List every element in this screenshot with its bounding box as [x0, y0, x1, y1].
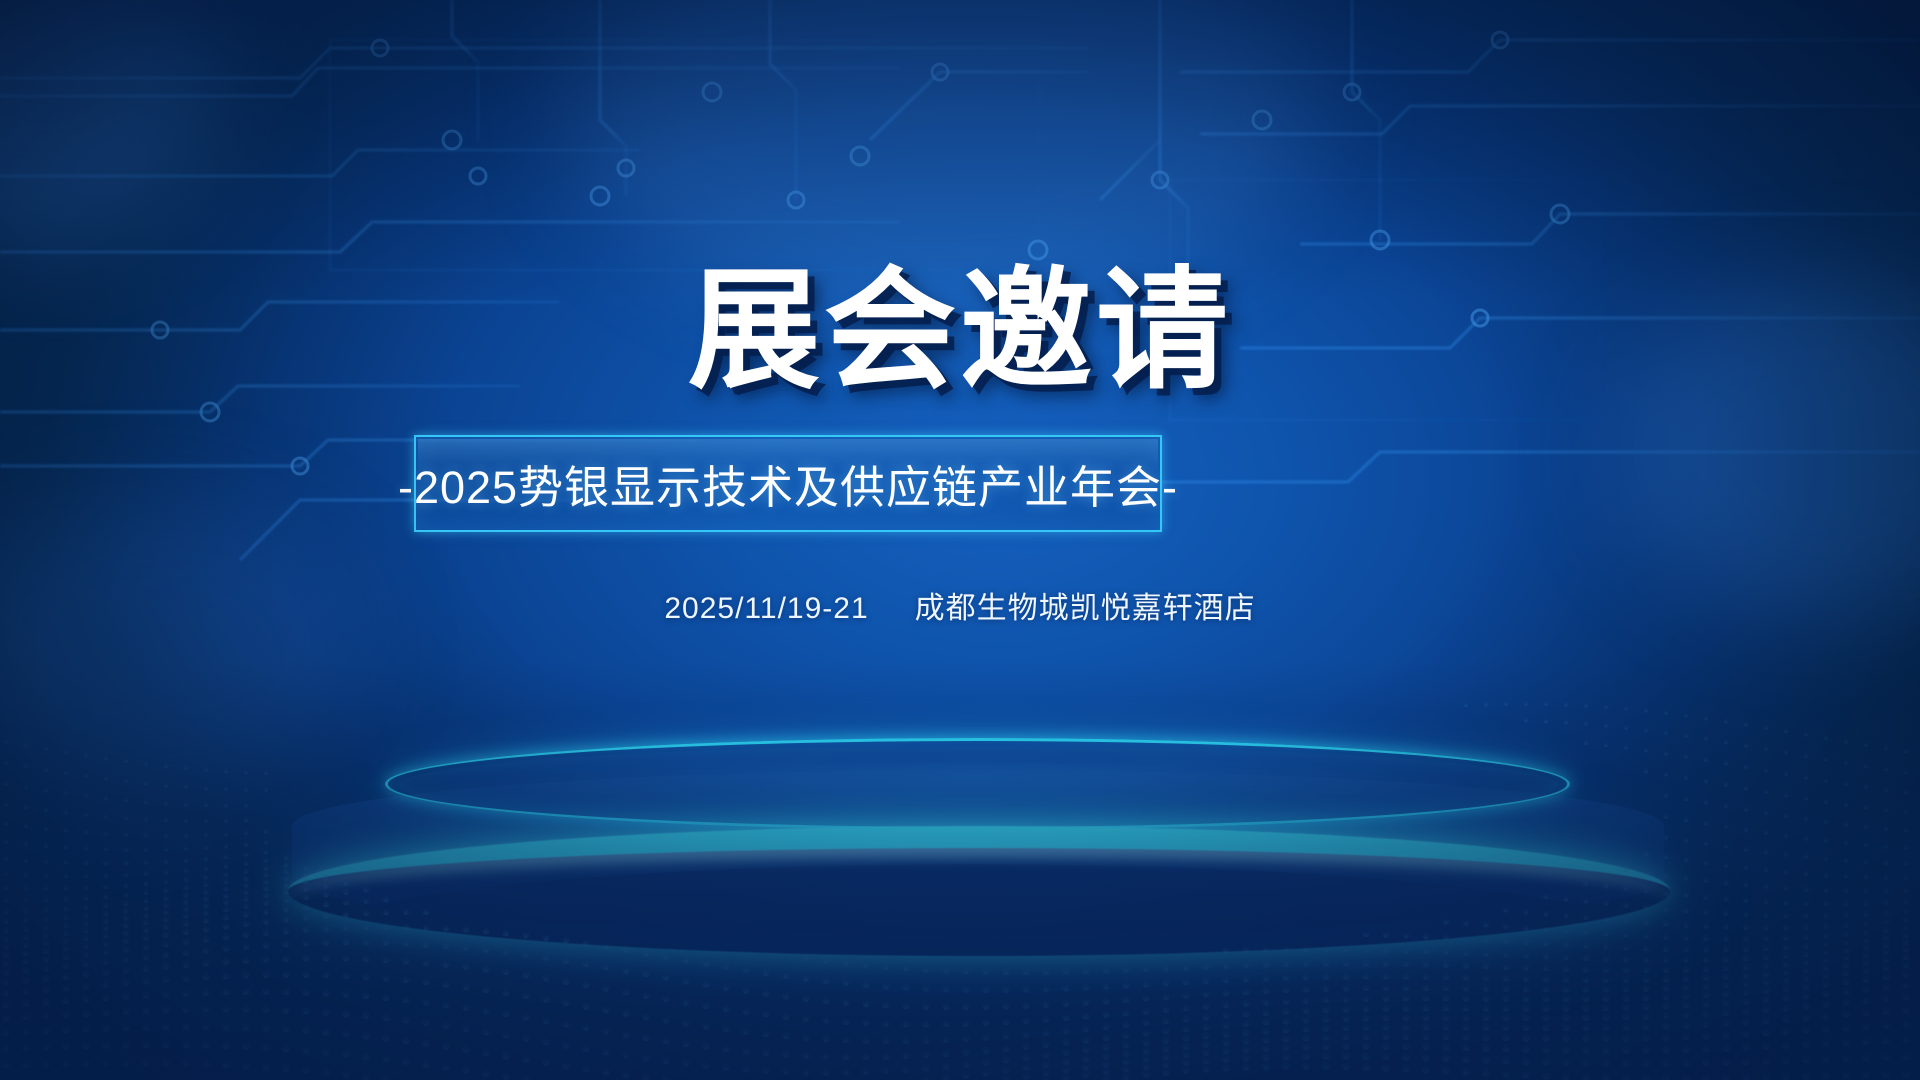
event-meta-row: 2025/11/19-21 成都生物城凯悦嘉轩酒店	[0, 583, 1920, 627]
event-venue: 成都生物城凯悦嘉轩酒店	[915, 583, 1256, 627]
dot-matrix-wave-field	[0, 660, 1920, 1080]
subtitle-frame: -2025势银显示技术及供应链产业年会-	[414, 435, 1162, 532]
subtitle-text: -2025势银显示技术及供应链产业年会-	[398, 451, 1178, 516]
event-date: 2025/11/19-21	[664, 592, 868, 626]
poster-canvas: 展会邀请 -2025势银显示技术及供应链产业年会- 2025/11/19-21 …	[0, 0, 1920, 1080]
title-block: 展会邀请	[0, 262, 1920, 401]
page-title: 展会邀请	[688, 262, 1232, 401]
